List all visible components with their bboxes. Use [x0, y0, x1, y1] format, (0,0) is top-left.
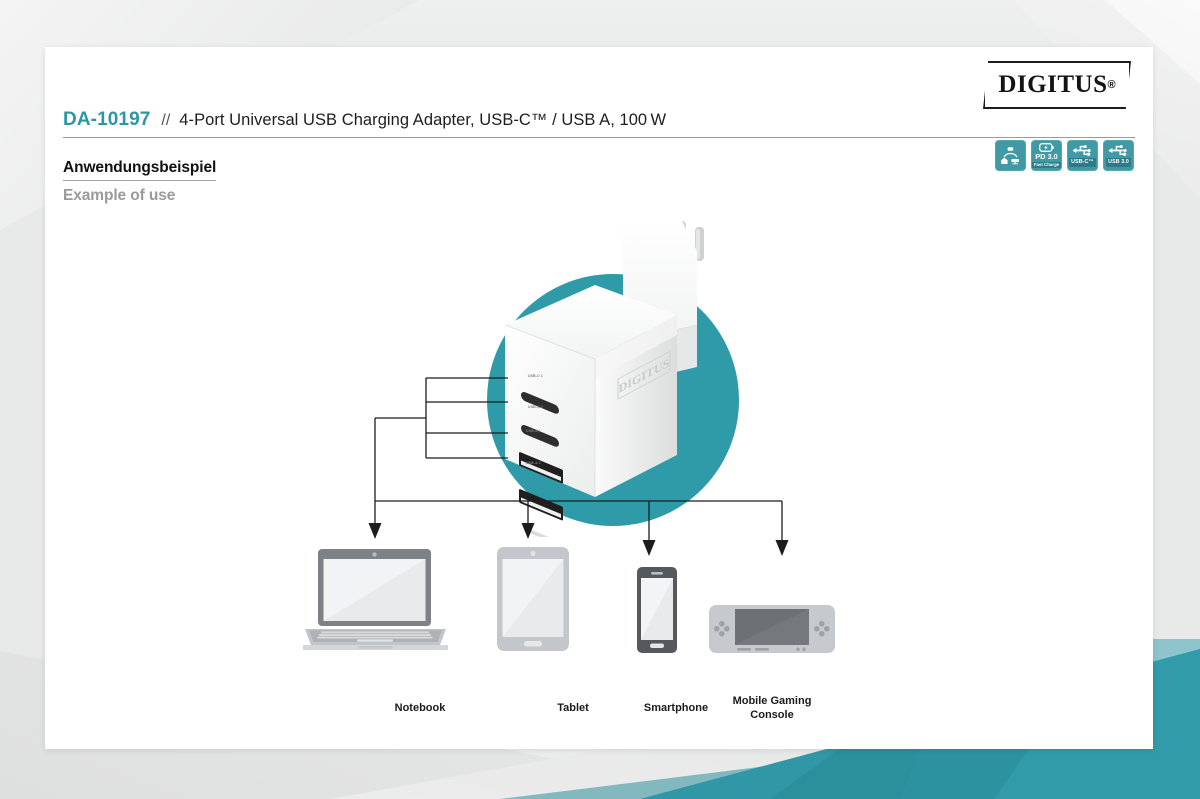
gaming-console-illustration	[707, 599, 837, 659]
tablet-illustration	[493, 545, 573, 655]
arrow-to-tablet	[522, 523, 535, 539]
datasheet-card: DIGITUS® DA-10197 // 4-Port Universal US…	[45, 47, 1153, 749]
arrow-to-console	[776, 540, 789, 556]
diagram-stage: DIGITUS USB-C 1 USB-C 2 U	[45, 47, 1153, 749]
arrow-to-smartphone	[643, 540, 656, 556]
arrow-to-notebook	[369, 523, 382, 539]
device-label-gaming-console: Mobile Gaming Console	[697, 695, 847, 723]
connector-diagram	[45, 47, 1153, 749]
smartphone-illustration	[633, 565, 681, 657]
device-label-notebook: Notebook	[345, 702, 495, 716]
notebook-illustration	[303, 547, 448, 657]
